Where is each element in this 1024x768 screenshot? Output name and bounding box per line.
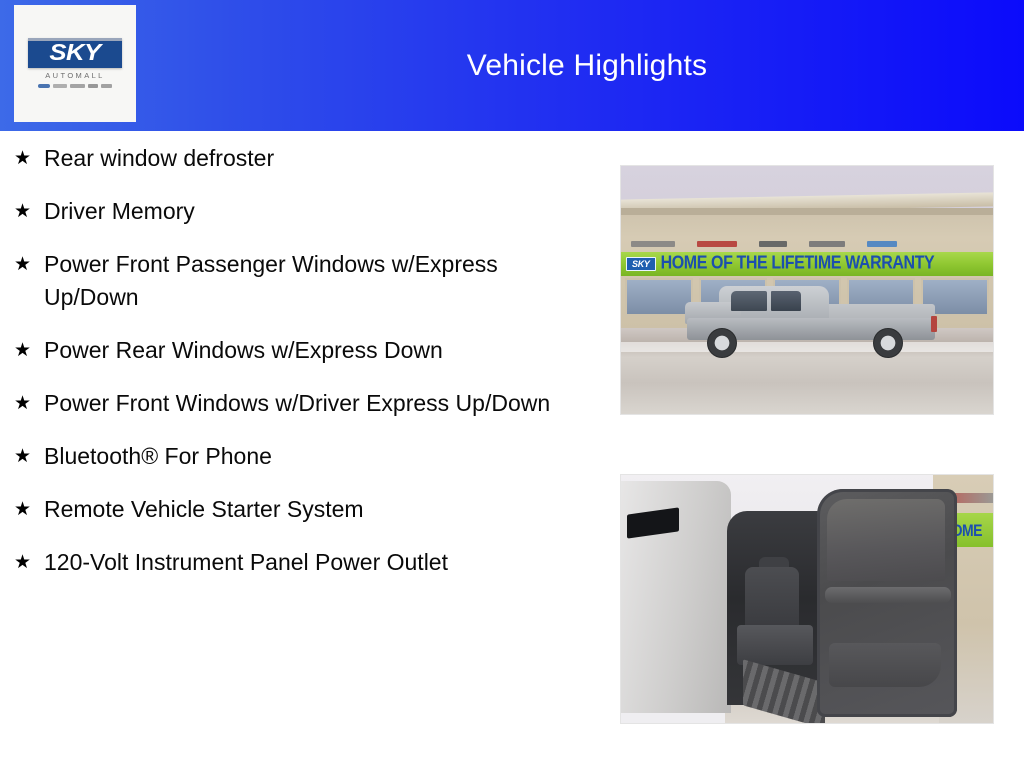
feature-label: Power Rear Windows w/Express Down [44, 334, 443, 367]
brand-chip-ram-icon [101, 84, 112, 88]
automall-logo-subtitle: AUTOMALL [28, 71, 122, 80]
page-title: Vehicle Highlights [150, 0, 1024, 131]
door-window-glass [827, 499, 945, 581]
brand-chip-chrysler-icon [53, 84, 67, 88]
dealership-brand-signs [621, 236, 993, 251]
list-item: ★ Power Front Passenger Windows w/Expres… [0, 248, 600, 314]
star-bullet-icon: ★ [14, 546, 44, 579]
feature-label: Bluetooth® For Phone [44, 440, 272, 473]
sign-ram-icon [809, 241, 845, 247]
list-item: ★ Rear window defroster [0, 142, 600, 175]
door-pocket [829, 643, 941, 687]
star-bullet-icon: ★ [14, 248, 44, 281]
star-bullet-icon: ★ [14, 195, 44, 228]
sign-dodge-icon [697, 241, 737, 247]
list-item: ★ Power Front Windows w/Driver Express U… [0, 387, 600, 420]
brand-chip-ford-icon [38, 84, 50, 88]
star-bullet-icon: ★ [14, 440, 44, 473]
star-bullet-icon: ★ [14, 493, 44, 526]
sign-jeep-icon [759, 241, 787, 247]
sky-logo-mark: SKY [28, 38, 122, 68]
star-bullet-icon: ★ [14, 142, 44, 175]
rear-seat-back [745, 567, 799, 629]
brand-chip-dodge-icon [70, 84, 85, 88]
truck-rear-window [771, 291, 801, 311]
dealer-logo: SKY AUTOMALL [28, 38, 122, 89]
truck-rear-wheel [873, 328, 903, 358]
pickup-truck [683, 284, 935, 356]
warranty-banner: SKY HOME OF THE LIFETIME WARRANTY [621, 252, 993, 276]
vehicle-highlights-slide: SKY AUTOMALL Vehicle Highlights ★ Rear w… [0, 0, 1024, 768]
feature-label: 120-Volt Instrument Panel Power Outlet [44, 546, 448, 579]
truck-front-window [731, 291, 767, 311]
banner-text: HOME OF THE LIFETIME WARRANTY [661, 253, 935, 274]
list-item: ★ 120-Volt Instrument Panel Power Outlet [0, 546, 600, 579]
oem-brand-strip-icon [28, 82, 122, 89]
vehicle-exterior-photo: SKY HOME OF THE LIFETIME WARRANTY [621, 166, 993, 414]
feature-label: Power Front Passenger Windows w/Express … [44, 248, 574, 314]
star-bullet-icon: ★ [14, 387, 44, 420]
banner-sky-logo: SKY [626, 257, 656, 271]
feature-label: Driver Memory [44, 195, 195, 228]
vehicle-interior-photo: HOME [621, 475, 993, 723]
list-item: ★ Bluetooth® For Phone [0, 440, 600, 473]
truck-taillight [931, 316, 937, 332]
brand-chip-jeep-icon [88, 84, 98, 88]
truck-front-wheel [707, 328, 737, 358]
rear-seat-base [737, 625, 813, 665]
list-item: ★ Power Rear Windows w/Express Down [0, 334, 600, 367]
feature-label: Power Front Windows w/Driver Express Up/… [44, 387, 550, 420]
feature-label: Rear window defroster [44, 142, 274, 175]
sign-chrysler-icon [631, 241, 675, 247]
sky-logo-text: SKY [25, 41, 126, 64]
feature-label: Remote Vehicle Starter System [44, 493, 364, 526]
star-bullet-icon: ★ [14, 334, 44, 367]
door-armrest [825, 587, 951, 603]
list-item: ★ Driver Memory [0, 195, 600, 228]
vehicle-features-list: ★ Rear window defroster ★ Driver Memory … [0, 142, 600, 579]
page-header: SKY AUTOMALL Vehicle Highlights [0, 0, 1024, 131]
sign-sky-icon [867, 241, 897, 247]
dealer-logo-card: SKY AUTOMALL [14, 5, 136, 122]
list-item: ★ Remote Vehicle Starter System [0, 493, 600, 526]
